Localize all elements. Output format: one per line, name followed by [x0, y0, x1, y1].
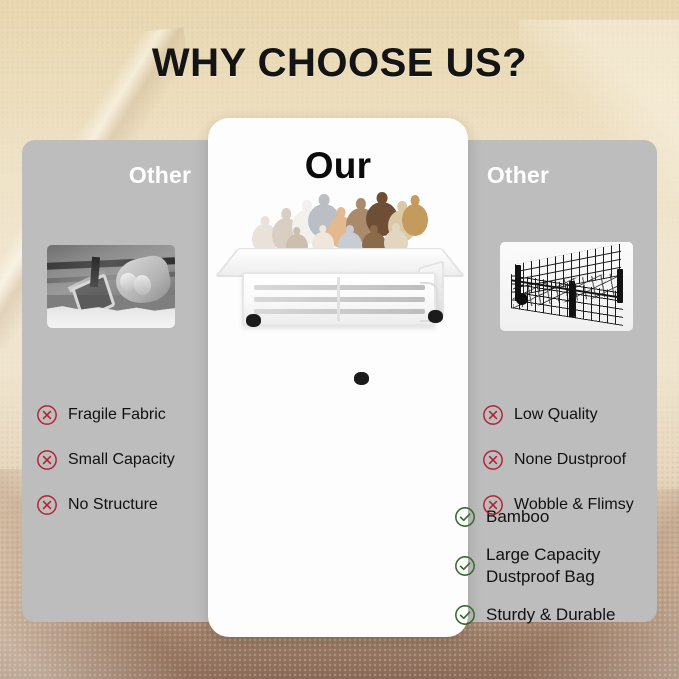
- list-item: Large Capacity Dustproof Bag: [454, 544, 654, 588]
- list-item: Small Capacity: [36, 449, 226, 471]
- right-feature-list: Low Quality None Dustproof Wobble & Flim…: [482, 404, 667, 539]
- x-circle-icon: [36, 494, 58, 516]
- list-item-label: No Structure: [68, 495, 158, 515]
- list-item: Sturdy & Durable: [454, 604, 654, 626]
- list-item: No Structure: [36, 494, 226, 516]
- fabric-bag-illustration: [47, 245, 175, 328]
- bin-front-slats: [242, 272, 436, 326]
- check-circle-icon: [454, 604, 476, 626]
- list-item-label: None Dustproof: [514, 450, 626, 470]
- list-item-label: Large Capacity Dustproof Bag: [486, 544, 600, 588]
- check-circle-icon: [454, 506, 476, 528]
- storage-bin: [232, 248, 444, 334]
- page-title: WHY CHOOSE US?: [0, 41, 679, 86]
- x-circle-icon: [36, 449, 58, 471]
- x-circle-icon: [482, 404, 504, 426]
- comparison-infographic: WHY CHOOSE US? Other Other: [0, 0, 679, 679]
- list-item: None Dustproof: [482, 449, 667, 471]
- center-card-heading: Our: [208, 145, 468, 187]
- caster-wheel: [428, 310, 443, 323]
- caster-wheel: [246, 314, 261, 327]
- list-item: Wobble & Flimsy: [482, 494, 667, 516]
- check-circle-icon: [454, 555, 476, 577]
- list-item: Low Quality: [482, 404, 667, 426]
- caster-wheel: [354, 372, 369, 385]
- left-feature-list: Fragile Fabric Small Capacity No Structu…: [36, 404, 226, 539]
- list-item-label: Wobble & Flimsy: [514, 495, 634, 515]
- list-item-label: Low Quality: [514, 405, 598, 425]
- x-circle-icon: [36, 404, 58, 426]
- list-item-label: Fragile Fabric: [68, 405, 166, 425]
- list-item-label: Sturdy & Durable: [486, 604, 615, 626]
- x-circle-icon: [482, 494, 504, 516]
- list-item: Fragile Fabric: [36, 404, 226, 426]
- wire-mesh-basket-illustration: [500, 242, 633, 331]
- right-competitor-image: [500, 242, 633, 331]
- product-image: [218, 196, 458, 366]
- left-competitor-image: [47, 245, 175, 328]
- x-circle-icon: [482, 449, 504, 471]
- list-item-label: Small Capacity: [68, 450, 175, 470]
- card-our-product: Our: [208, 118, 468, 637]
